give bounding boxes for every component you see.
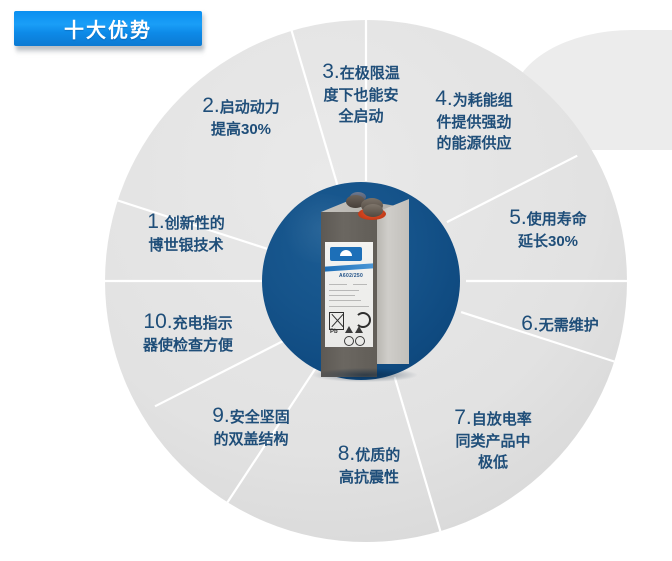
label-stripe (325, 263, 373, 271)
label-fineprint-line (329, 290, 359, 291)
label-fineprint-line (353, 284, 367, 285)
battery-label: A602/250 Pb (325, 242, 373, 347)
sun-logo-icon (330, 247, 362, 261)
banner-shadow (16, 46, 204, 55)
label-fineprint-line (329, 284, 347, 285)
battery-image: A602/250 Pb (303, 190, 423, 385)
symbol-circle-icon (344, 336, 354, 346)
battery-terminal-cap-cover (363, 204, 383, 217)
battery-shadow (313, 368, 417, 382)
header-banner: 十大优势 (14, 11, 202, 46)
warning-triangle-icon (345, 326, 353, 333)
warning-triangle-icon (355, 326, 363, 333)
label-fineprint-line (329, 306, 369, 307)
banner-title: 十大优势 (64, 14, 152, 43)
crossed-out-bin-icon (329, 312, 344, 330)
symbol-circle-icon (355, 336, 365, 346)
label-fineprint-line (329, 295, 355, 296)
battery-side-face (377, 199, 409, 364)
battery-model-text: A602/250 (339, 273, 363, 279)
battery-warning-symbols: Pb (329, 312, 369, 338)
label-fineprint-line (329, 300, 361, 301)
lead-pb-icon: Pb (330, 329, 338, 335)
